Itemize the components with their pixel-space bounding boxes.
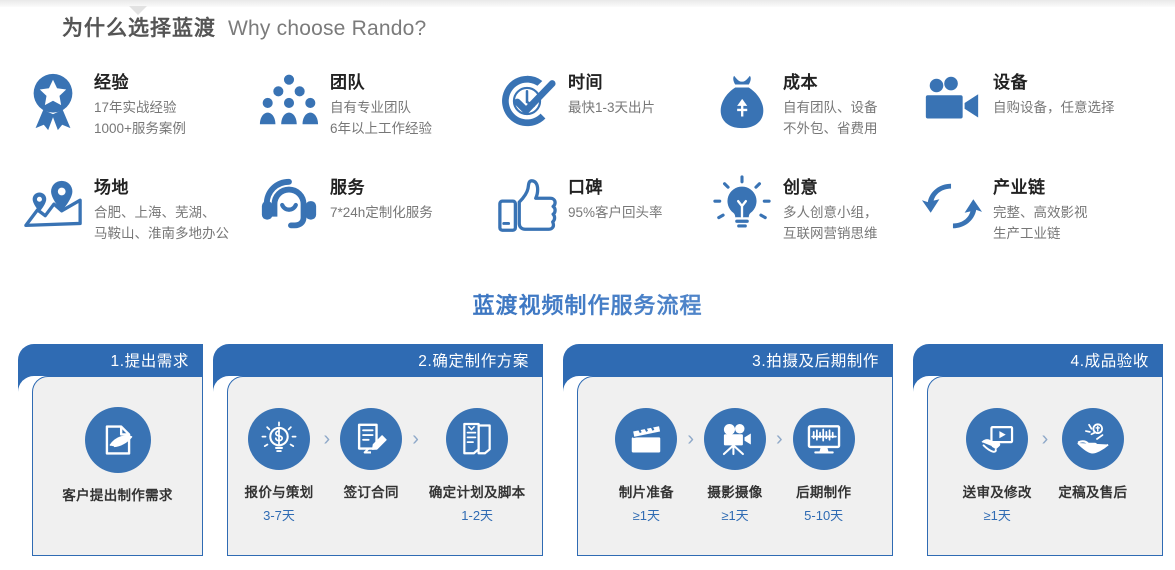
feature-item: 经验17年实战经验 1000+服务案例	[22, 68, 258, 173]
feature-desc: 7*24h定制化服务	[330, 203, 433, 224]
process-card[interactable]: 3.拍摄及后期制作制片准备≥1天›摄影摄像≥1天›后期制作5-10天	[563, 344, 893, 556]
step-duration: 3-7天	[263, 505, 295, 524]
process-card-header-label: 1.提出需求	[110, 349, 189, 371]
step-separator-icon: ›	[766, 408, 793, 470]
lightbulb-icon	[711, 175, 773, 237]
money-bag-icon	[711, 70, 773, 132]
feature-item: 设备自购设备，任意选择	[921, 68, 1167, 173]
feature-desc: 自有专业团队 6年以上工作经验	[330, 98, 432, 140]
bulb-dollar-icon	[248, 408, 310, 470]
process-step-row: 报价与策划3-7天›签订合同›确定计划及脚本1-2天	[228, 408, 542, 524]
feature-desc: 自购设备，任意选择	[993, 98, 1115, 119]
process-card-row: 1.提出需求客户提出制作需求2.确定制作方案报价与策划3-7天›签订合同›确定计…	[0, 344, 1175, 556]
process-step[interactable]: 定稿及售后	[1058, 408, 1127, 522]
feature-title: 经验	[94, 72, 186, 95]
process-step[interactable]: 签订合同	[340, 408, 402, 522]
process-card-header: 1.提出需求	[18, 344, 203, 376]
process-step[interactable]: 送审及修改≥1天	[963, 408, 1032, 524]
contract-sign-icon	[340, 408, 402, 470]
step-label: 报价与策划	[245, 481, 314, 501]
feature-desc: 多人创意小组， 互联网营销思维	[783, 203, 878, 245]
step-label: 制片准备	[619, 481, 674, 501]
feature-item: 成本自有团队、设备 不外包、省费用	[711, 68, 921, 173]
feature-title: 时间	[568, 72, 655, 95]
feature-text: 口碑95%客户回头率	[568, 173, 663, 224]
why-choose-page: 为什么选择蓝渡 Why choose Rando? 经验17年实战经验 1000…	[0, 0, 1175, 570]
feature-item: 口碑95%客户回头率	[496, 173, 711, 273]
step-separator-icon: ›	[402, 408, 429, 470]
process-step-row: 制片准备≥1天›摄影摄像≥1天›后期制作5-10天	[578, 408, 892, 524]
feature-text: 场地合肥、上海、芜湖、 马鞍山、淮南多地办公	[94, 173, 229, 245]
feature-title: 产业链	[993, 177, 1088, 200]
feature-item: 创意多人创意小组， 互联网营销思维	[711, 173, 921, 273]
feature-desc: 完整、高效影视 生产工业链	[993, 203, 1088, 245]
feature-text: 经验17年实战经验 1000+服务案例	[94, 68, 186, 140]
feature-title: 场地	[94, 177, 229, 200]
process-step[interactable]: 后期制作5-10天	[793, 408, 855, 524]
step-label: 摄影摄像	[707, 481, 762, 501]
feature-text: 设备自购设备，任意选择	[993, 68, 1115, 119]
feature-desc: 自有团队、设备 不外包、省费用	[783, 98, 878, 140]
process-step[interactable]: 客户提出制作需求	[62, 407, 172, 525]
feature-text: 产业链完整、高效影视 生产工业链	[993, 173, 1088, 245]
document-pen-icon	[85, 407, 151, 473]
feature-title: 口碑	[568, 177, 663, 200]
process-card-body: 报价与策划3-7天›签订合同›确定计划及脚本1-2天	[227, 376, 543, 556]
feature-title: 团队	[330, 72, 432, 95]
feature-text: 服务7*24h定制化服务	[330, 173, 433, 224]
feature-desc: 95%客户回头率	[568, 203, 663, 224]
step-duration: ≥1天	[721, 505, 748, 524]
step-label: 后期制作	[796, 481, 851, 501]
process-card-header: 2.确定制作方案	[213, 344, 543, 376]
handshake-screen-icon	[966, 408, 1028, 470]
step-label: 定稿及售后	[1058, 481, 1127, 501]
edit-monitor-icon	[793, 408, 855, 470]
feature-item: 场地合肥、上海、芜湖、 马鞍山、淮南多地办公	[22, 173, 258, 273]
feature-item: 产业链完整、高效影视 生产工业链	[921, 173, 1167, 273]
feature-item: 团队自有专业团队 6年以上工作经验	[258, 68, 496, 173]
feature-title: 设备	[993, 72, 1115, 95]
headset-icon	[258, 175, 320, 237]
step-duration: ≥1天	[633, 505, 660, 524]
process-card-body: 客户提出制作需求	[32, 376, 203, 556]
step-duration: 5-10天	[804, 505, 843, 524]
process-card-header: 4.成品验收	[913, 344, 1163, 376]
process-card-header: 3.拍摄及后期制作	[563, 344, 893, 376]
script-docs-icon	[446, 408, 508, 470]
map-pin-icon	[22, 175, 84, 237]
feature-item: 时间最快1-3天出片	[496, 68, 711, 173]
process-card-header-label: 2.确定制作方案	[418, 349, 529, 371]
process-step-row: 客户提出制作需求	[33, 407, 202, 525]
step-duration: ≥1天	[983, 505, 1010, 524]
process-card[interactable]: 4.成品验收送审及修改≥1天›定稿及售后	[913, 344, 1163, 556]
feature-title: 服务	[330, 177, 433, 200]
step-label: 确定计划及脚本	[429, 481, 526, 501]
feature-desc: 17年实战经验 1000+服务案例	[94, 98, 186, 140]
team-people-icon	[258, 70, 320, 132]
feature-text: 团队自有专业团队 6年以上工作经验	[330, 68, 432, 140]
feature-title: 成本	[783, 72, 878, 95]
process-step[interactable]: 确定计划及脚本1-2天	[429, 408, 526, 524]
process-card[interactable]: 2.确定制作方案报价与策划3-7天›签订合同›确定计划及脚本1-2天	[213, 344, 543, 556]
thumbs-up-icon	[496, 175, 558, 237]
feature-text: 时间最快1-3天出片	[568, 68, 655, 119]
top-gray-bar	[0, 0, 1175, 7]
hand-coins-icon	[1062, 408, 1124, 470]
ribbon-star-icon	[22, 70, 84, 132]
feature-desc: 最快1-3天出片	[568, 98, 655, 119]
step-label: 送审及修改	[963, 481, 1032, 501]
process-step[interactable]: 摄影摄像≥1天	[704, 408, 766, 524]
process-card-header-label: 3.拍摄及后期制作	[752, 349, 879, 371]
process-step-row: 送审及修改≥1天›定稿及售后	[928, 408, 1162, 524]
feature-item: 服务7*24h定制化服务	[258, 173, 496, 273]
page-title-cn: 为什么选择蓝渡	[62, 12, 216, 42]
clapperboard-icon	[615, 408, 677, 470]
movie-camera-icon	[704, 408, 766, 470]
step-separator-icon: ›	[1032, 408, 1059, 470]
process-step[interactable]: 报价与策划3-7天	[245, 408, 314, 524]
process-section-title: 蓝渡视频制作服务流程	[0, 288, 1175, 320]
clock-check-icon	[496, 70, 558, 132]
feature-grid: 经验17年实战经验 1000+服务案例团队自有专业团队 6年以上工作经验时间最快…	[22, 68, 1167, 273]
feature-text: 创意多人创意小组， 互联网营销思维	[783, 173, 878, 245]
process-card-body: 送审及修改≥1天›定稿及售后	[927, 376, 1163, 556]
feature-desc: 合肥、上海、芜湖、 马鞍山、淮南多地办公	[94, 203, 229, 245]
process-card[interactable]: 1.提出需求客户提出制作需求	[18, 344, 203, 556]
step-separator-icon: ›	[314, 408, 341, 470]
step-separator-icon: ›	[677, 408, 704, 470]
feature-text: 成本自有团队、设备 不外包、省费用	[783, 68, 878, 140]
step-label: 签订合同	[344, 481, 399, 501]
page-title: 为什么选择蓝渡 Why choose Rando?	[62, 12, 426, 42]
cycle-arrows-icon	[921, 175, 983, 237]
feature-title: 创意	[783, 177, 878, 200]
process-step[interactable]: 制片准备≥1天	[615, 408, 677, 524]
video-camera-icon	[921, 70, 983, 132]
page-title-en: Why choose Rando?	[228, 17, 426, 41]
step-duration: 1-2天	[461, 505, 493, 524]
process-card-body: 制片准备≥1天›摄影摄像≥1天›后期制作5-10天	[577, 376, 893, 556]
process-card-header-label: 4.成品验收	[1070, 349, 1149, 371]
step-label: 客户提出制作需求	[62, 484, 172, 504]
